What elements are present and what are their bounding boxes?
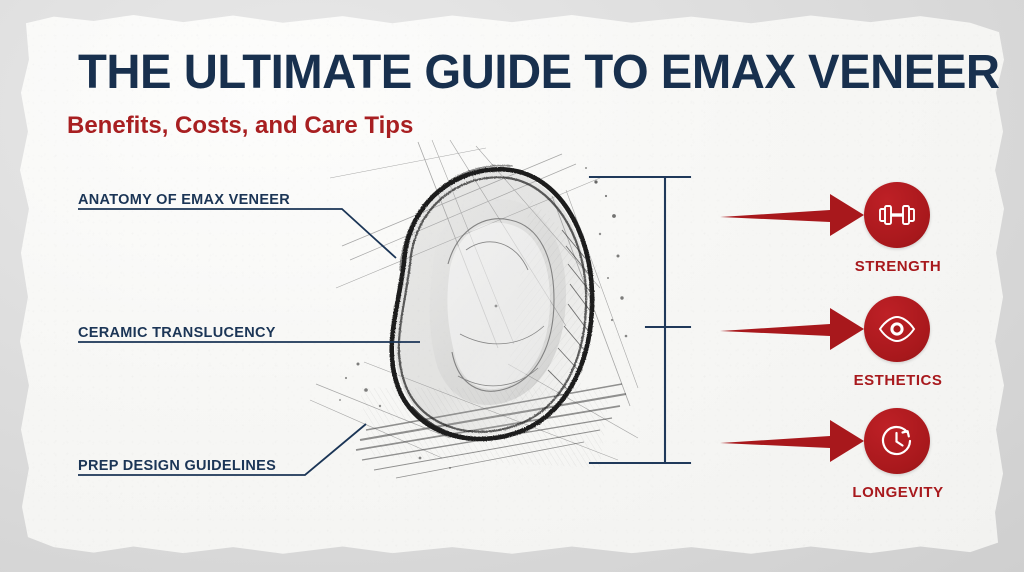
leader-line-straight-icon — [78, 313, 423, 353]
callout-anatomy[interactable]: ANATOMY OF EMAX VENEER — [78, 180, 408, 270]
dumbbell-icon — [877, 195, 917, 235]
arrow-right-icon — [718, 412, 868, 468]
clock-history-icon — [877, 421, 917, 461]
callout-prep-design[interactable]: PREP DESIGN GUIDELINES — [78, 420, 378, 484]
page-title: THE ULTIMATE GUIDE TO EMAX VENEER — [78, 48, 1000, 98]
leader-line-up-right-icon — [78, 420, 378, 484]
page-subtitle: Benefits, Costs, and Care Tips — [67, 112, 413, 140]
infographic-canvas: THE ULTIMATE GUIDE TO EMAX VENEER Benefi… — [0, 0, 1024, 572]
leader-line-down-right-icon — [78, 180, 408, 270]
callout-translucency[interactable]: CERAMIC TRANSLUCENCY — [78, 313, 423, 353]
bracket-icon — [580, 165, 695, 475]
benefit-label: LONGEVITY — [838, 484, 958, 501]
benefit-esthetics[interactable]: ESTHETICS — [718, 300, 968, 400]
arrow-right-icon — [718, 300, 868, 356]
arrow-right-icon — [718, 186, 868, 242]
longevity-badge[interactable] — [864, 408, 930, 474]
grouping-bracket — [580, 165, 695, 480]
eye-icon — [877, 309, 917, 349]
benefit-strength[interactable]: STRENGTH — [718, 186, 968, 286]
benefit-label: STRENGTH — [838, 258, 958, 275]
benefit-label: ESTHETICS — [838, 372, 958, 389]
esthetics-badge[interactable] — [864, 296, 930, 362]
strength-badge[interactable] — [864, 182, 930, 248]
benefit-longevity[interactable]: LONGEVITY — [718, 412, 968, 512]
